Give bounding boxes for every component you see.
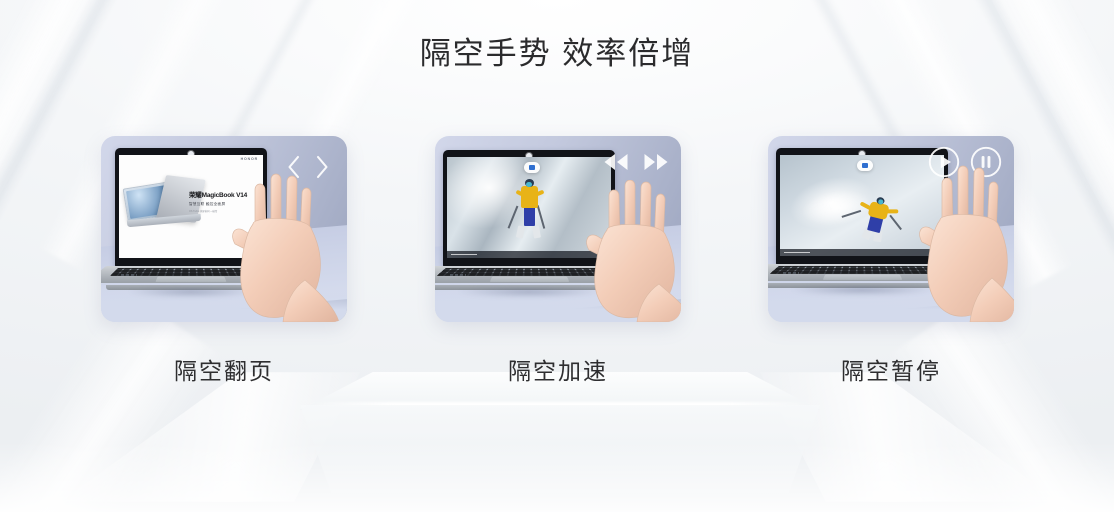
laptop-trackpad bbox=[489, 277, 569, 282]
honor-brand-label: HONOR bbox=[241, 157, 258, 161]
laptop-base bbox=[443, 266, 615, 290]
laptop-ports bbox=[450, 274, 466, 276]
feature-card-pause[interactable] bbox=[768, 136, 1014, 322]
skier-arm bbox=[886, 210, 899, 214]
page-title: 隔空手势 效率倍增 bbox=[0, 28, 1114, 73]
gesture-icons-fast-forward bbox=[603, 152, 669, 172]
gesture-icons-pause bbox=[928, 146, 1002, 178]
laptop-device: HONOR 荣耀MagicBook V14 智慧互联 触控全面屏 OS Turb… bbox=[115, 148, 267, 290]
chevron-left-icon[interactable] bbox=[285, 154, 302, 180]
caption-fast-forward: 隔空加速 bbox=[435, 352, 681, 386]
laptop-device bbox=[776, 148, 948, 288]
laptop-screen bbox=[447, 157, 611, 258]
feature-card-page-turn[interactable]: HONOR 荣耀MagicBook V14 智慧互联 触控全面屏 OS Turb… bbox=[101, 136, 347, 322]
laptop-screen: HONOR 荣耀MagicBook V14 智慧互联 触控全面屏 OS Turb… bbox=[119, 155, 263, 258]
laptop-base bbox=[776, 264, 948, 288]
laptop-shadow bbox=[118, 288, 264, 297]
video-player bbox=[780, 155, 944, 256]
laptop-device bbox=[443, 150, 615, 290]
video-indicator-badge bbox=[857, 160, 873, 171]
video-progress-bar[interactable] bbox=[780, 249, 944, 256]
rewind-icon[interactable] bbox=[603, 152, 629, 172]
laptop-lid bbox=[776, 148, 948, 265]
video-indicator-badge bbox=[524, 162, 540, 173]
play-circle-icon[interactable] bbox=[928, 146, 960, 178]
laptop-ports bbox=[121, 274, 137, 276]
caption-page-turn: 隔空翻页 bbox=[101, 352, 347, 386]
caption-pause: 隔空暂停 bbox=[768, 352, 1014, 386]
ski bbox=[516, 226, 525, 239]
video-progress-bar[interactable] bbox=[447, 251, 611, 258]
pause-circle-icon[interactable] bbox=[970, 146, 1002, 178]
skier-pants bbox=[524, 207, 535, 226]
ski bbox=[532, 226, 541, 239]
product-copy-block: 荣耀MagicBook V14 智慧互联 触控全面屏 OS Turbo 多屏协同… bbox=[189, 189, 257, 213]
skier-arm bbox=[535, 190, 544, 197]
laptop-lid bbox=[443, 150, 615, 267]
skier-goggles bbox=[526, 182, 532, 187]
laptop-screen bbox=[780, 155, 944, 256]
background-floor-sheen bbox=[0, 442, 1114, 512]
skier-jacket bbox=[521, 186, 538, 208]
laptop-trackpad bbox=[155, 277, 226, 282]
skier-figure bbox=[516, 179, 546, 239]
laptop-base bbox=[115, 266, 267, 290]
laptop-shadow bbox=[779, 286, 944, 295]
laptop-ports bbox=[783, 272, 799, 274]
video-player bbox=[447, 157, 611, 258]
laptop-lid: HONOR 荣耀MagicBook V14 智慧互联 触控全面屏 OS Turb… bbox=[115, 148, 267, 267]
feature-card-fast-forward[interactable] bbox=[435, 136, 681, 322]
laptop-keyboard bbox=[435, 266, 648, 283]
gesture-icons-page-turn bbox=[285, 154, 331, 180]
product-headline: 荣耀MagicBook V14 bbox=[189, 189, 257, 199]
fast-forward-icon[interactable] bbox=[643, 152, 669, 172]
product-subline: 智慧互联 触控全面屏 bbox=[189, 202, 257, 207]
product-note: OS Turbo 多屏协同 一碰传 bbox=[189, 209, 257, 213]
laptop-trackpad bbox=[822, 275, 902, 280]
laptop-shadow bbox=[446, 288, 611, 297]
chevron-right-icon[interactable] bbox=[314, 154, 331, 180]
